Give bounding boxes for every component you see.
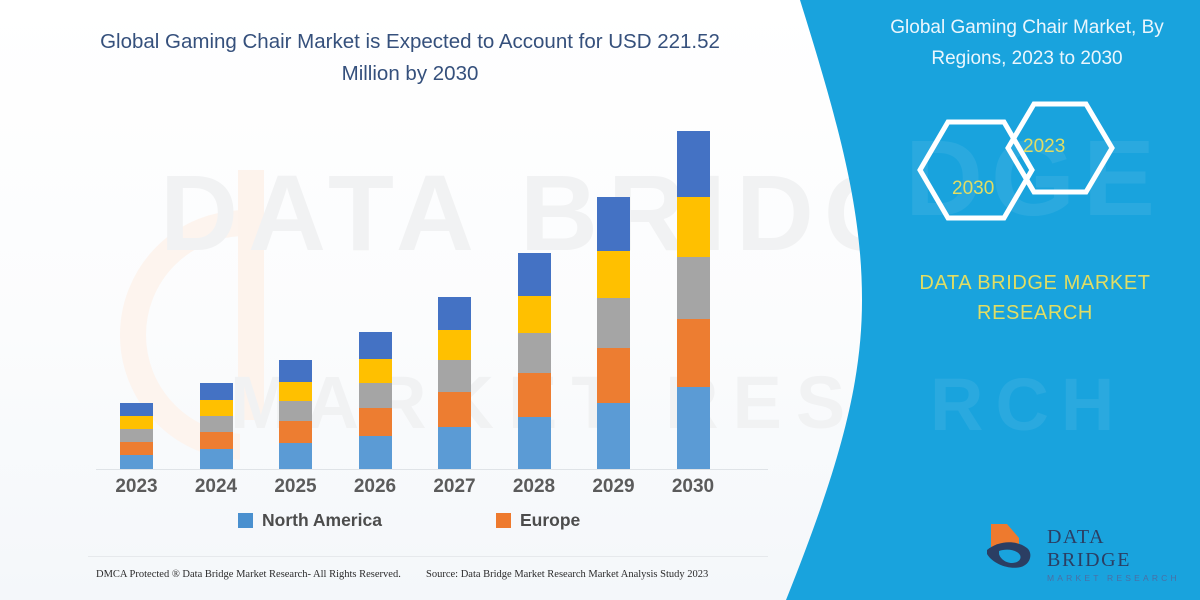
bar-segment-2027-series-3 (438, 360, 471, 392)
logo-text: DATA BRIDGE MARKET RESEARCH (1047, 526, 1185, 583)
x-axis-label-2029: 2029 (584, 476, 644, 498)
bar-2026[interactable] (359, 332, 392, 469)
bar-segment-2030-europe (677, 319, 710, 387)
bar-segment-2023-europe (120, 442, 153, 455)
x-axis-line (96, 469, 768, 470)
bar-segment-2023-series-3 (120, 429, 153, 442)
legend-item-north-america[interactable]: North America (238, 510, 382, 531)
bar-segment-2026-series-3 (359, 383, 392, 408)
bar-segment-2025-series-5 (279, 360, 312, 382)
bar-segment-2030-series-5 (677, 131, 710, 197)
x-axis-label-2028: 2028 (504, 476, 564, 498)
bar-segment-2026-europe (359, 408, 392, 436)
bar-segment-2029-europe (597, 348, 630, 403)
bar-2028[interactable] (518, 253, 551, 469)
bar-segment-2029-series-3 (597, 298, 630, 348)
company-logo: DATA BRIDGE MARKET RESEARCH (985, 520, 1185, 576)
bar-segment-2027-series-4 (438, 330, 471, 360)
bar-segment-2029-series-5 (597, 197, 630, 251)
bar-2029[interactable] (597, 197, 630, 469)
chart-plot-area (96, 130, 756, 470)
x-axis-label-2030: 2030 (663, 476, 723, 498)
legend-swatch-icon (496, 513, 511, 528)
bar-segment-2024-series-3 (200, 416, 233, 432)
svg-text:RCH: RCH (930, 363, 1126, 446)
footer-copyright: DMCA Protected ® Data Bridge Market Rese… (96, 569, 401, 580)
logo-subtitle: MARKET RESEARCH (1047, 573, 1185, 583)
bar-segment-2026-north-america (359, 436, 392, 469)
footer-divider (88, 556, 768, 557)
bar-2023[interactable] (120, 403, 153, 469)
bar-group (96, 129, 756, 469)
bar-segment-2024-europe (200, 432, 233, 449)
bar-segment-2024-series-5 (200, 383, 233, 400)
bar-segment-2023-series-4 (120, 416, 153, 429)
bar-segment-2023-series-5 (120, 403, 153, 416)
bar-segment-2025-series-4 (279, 382, 312, 401)
hexagon-2023-label: 2023 (1023, 136, 1065, 158)
bar-2025[interactable] (279, 360, 312, 469)
hexagon-badges: 2023 2030 (910, 100, 1140, 240)
chart-legend: North AmericaEurope (96, 510, 756, 540)
bar-segment-2024-series-4 (200, 400, 233, 416)
legend-item-europe[interactable]: Europe (496, 510, 580, 531)
bar-segment-2026-series-4 (359, 359, 392, 383)
bar-segment-2027-series-5 (438, 297, 471, 330)
chart-title: Global Gaming Chair Market is Expected t… (70, 26, 750, 90)
x-axis-label-2026: 2026 (345, 476, 405, 498)
footer: DMCA Protected ® Data Bridge Market Rese… (0, 556, 860, 600)
bar-segment-2028-series-5 (518, 253, 551, 296)
bar-segment-2028-series-4 (518, 296, 551, 333)
bar-segment-2028-north-america (518, 417, 551, 469)
panel-title: Global Gaming Chair Market, By Regions, … (862, 12, 1192, 74)
x-axis-label-2024: 2024 (186, 476, 246, 498)
logo-mark-icon (985, 520, 1043, 572)
bar-segment-2029-north-america (597, 403, 630, 469)
brand-name: DATA BRIDGE MARKET RESEARCH (880, 268, 1190, 328)
bar-segment-2027-europe (438, 392, 471, 427)
x-axis-label-2027: 2027 (425, 476, 485, 498)
bar-segment-2025-europe (279, 421, 312, 443)
bar-segment-2026-series-5 (359, 332, 392, 359)
footer-source: Source: Data Bridge Market Research Mark… (426, 569, 708, 580)
logo-title: DATA BRIDGE (1047, 526, 1185, 572)
x-axis-label-2023: 2023 (107, 476, 167, 498)
bar-segment-2023-north-america (120, 455, 153, 469)
bar-segment-2029-series-4 (597, 251, 630, 298)
x-axis-label-2025: 2025 (266, 476, 326, 498)
bar-segment-2028-series-3 (518, 333, 551, 373)
bar-segment-2024-north-america (200, 449, 233, 469)
bar-segment-2030-north-america (677, 387, 710, 469)
bar-2030[interactable] (677, 131, 710, 469)
infographic-canvas: DATA BRIDGE MARKET RESEARCH Global Gamin… (0, 0, 1200, 600)
hexagon-2030-label: 2030 (952, 178, 994, 200)
bar-segment-2030-series-4 (677, 197, 710, 257)
legend-swatch-icon (238, 513, 253, 528)
bar-segment-2025-north-america (279, 443, 312, 469)
bar-2027[interactable] (438, 297, 471, 469)
x-axis-labels: 20232024202520262027202820292030 (96, 476, 768, 504)
legend-label: Europe (520, 510, 580, 531)
bar-segment-2030-series-3 (677, 257, 710, 319)
bar-segment-2027-north-america (438, 427, 471, 469)
bar-segment-2025-series-3 (279, 401, 312, 421)
bar-2024[interactable] (200, 383, 233, 469)
bar-segment-2028-europe (518, 373, 551, 417)
legend-label: North America (262, 510, 382, 531)
